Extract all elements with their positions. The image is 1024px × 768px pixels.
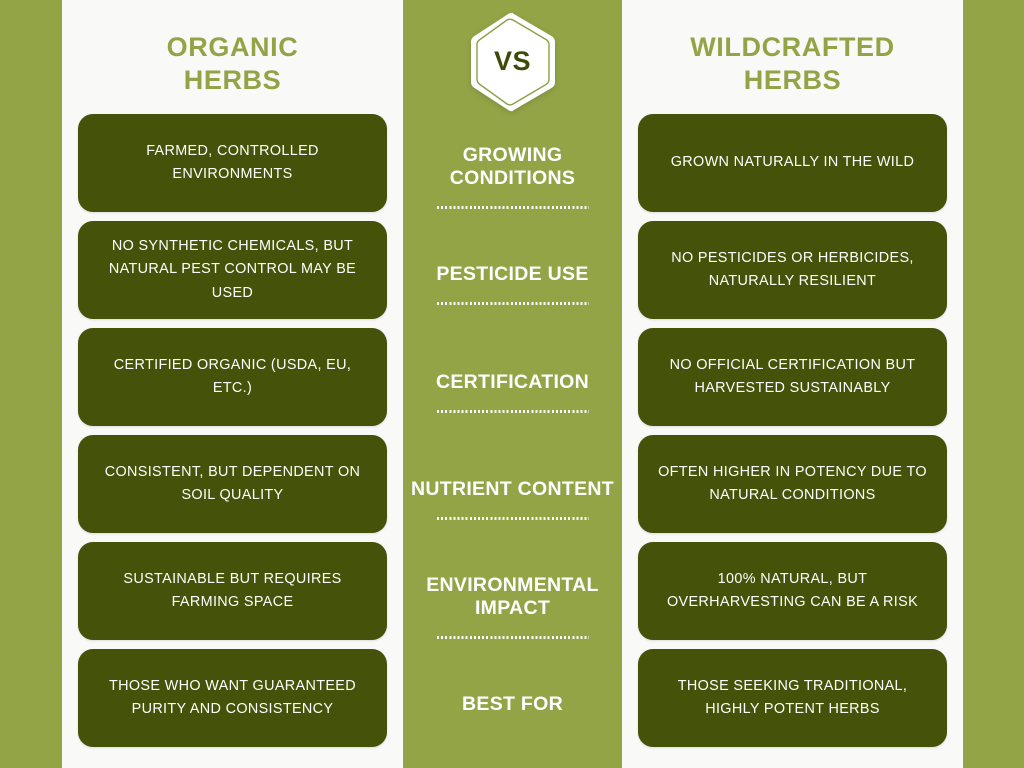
organic-herbs-title: ORGANIC HERBS — [167, 24, 299, 104]
wildcrafted-herbs-title-line2: HERBS — [690, 64, 895, 97]
criteria-divider — [437, 410, 589, 413]
criteria-label-environmental-impact: ENVIRONMENTAL IMPACT — [403, 574, 622, 620]
criteria-row-pesticide-use: PESTICIDE USE — [403, 231, 622, 339]
wildcrafted-card-best-for: THOSE SEEKING TRADITIONAL, HIGHLY POTENT… — [638, 649, 947, 747]
left-gutter — [0, 0, 62, 768]
organic-card-best-for: THOSE WHO WANT GUARANTEED PURITY AND CON… — [78, 649, 387, 747]
criteria-row-best-for: BEST FOR — [403, 661, 622, 768]
organic-card-environmental-impact: SUSTAINABLE BUT REQUIRES FARMING SPACE — [78, 542, 387, 640]
comparison-infographic: ORGANIC HERBS FARMED, CONTROLLED ENVIRON… — [0, 0, 1024, 768]
organic-herbs-column: ORGANIC HERBS FARMED, CONTROLLED ENVIRON… — [62, 0, 403, 768]
criteria-row-certification: CERTIFICATION — [403, 338, 622, 446]
criteria-label-growing-conditions: GROWING CONDITIONS — [403, 144, 622, 190]
wildcrafted-card-growing-conditions: GROWN NATURALLY IN THE WILD — [638, 114, 947, 212]
criteria-column: VS GROWING CONDITIONS PESTICIDE USE CERT… — [403, 0, 622, 768]
criteria-label-certification: CERTIFICATION — [432, 371, 593, 394]
right-gutter — [963, 0, 1024, 768]
criteria-row-nutrient-content: NUTRIENT CONTENT — [403, 446, 622, 554]
organic-card-nutrient-content: CONSISTENT, BUT DEPENDENT ON SOIL QUALIT… — [78, 435, 387, 533]
vs-badge: VS — [467, 11, 559, 113]
wildcrafted-herbs-card-list: GROWN NATURALLY IN THE WILD NO PESTICIDE… — [638, 104, 947, 747]
wildcrafted-card-nutrient-content: OFTEN HIGHER IN POTENCY DUE TO NATURAL C… — [638, 435, 947, 533]
criteria-divider — [437, 206, 589, 209]
criteria-row-growing-conditions: GROWING CONDITIONS — [403, 123, 622, 231]
wildcrafted-herbs-column: WILDCRAFTED HERBS GROWN NATURALLY IN THE… — [622, 0, 963, 768]
organic-herbs-title-line1: ORGANIC — [167, 31, 299, 64]
criteria-row-environmental-impact: ENVIRONMENTAL IMPACT — [403, 553, 622, 661]
criteria-label-nutrient-content: NUTRIENT CONTENT — [407, 478, 618, 501]
wildcrafted-card-certification: NO OFFICIAL CERTIFICATION BUT HARVESTED … — [638, 328, 947, 426]
wildcrafted-card-environmental-impact: 100% NATURAL, BUT OVERHARVESTING CAN BE … — [638, 542, 947, 640]
wildcrafted-herbs-title-line1: WILDCRAFTED — [690, 31, 895, 64]
wildcrafted-card-pesticide-use: NO PESTICIDES OR HERBICIDES, NATURALLY R… — [638, 221, 947, 319]
organic-card-growing-conditions: FARMED, CONTROLLED ENVIRONMENTS — [78, 114, 387, 212]
criteria-divider — [437, 636, 589, 639]
organic-herbs-card-list: FARMED, CONTROLLED ENVIRONMENTS NO SYNTH… — [78, 104, 387, 747]
criteria-divider — [437, 302, 589, 305]
organic-card-pesticide-use: NO SYNTHETIC CHEMICALS, BUT NATURAL PEST… — [78, 221, 387, 319]
wildcrafted-herbs-title: WILDCRAFTED HERBS — [690, 24, 895, 104]
organic-herbs-title-line2: HERBS — [167, 64, 299, 97]
criteria-list: GROWING CONDITIONS PESTICIDE USE CERTIFI… — [403, 113, 622, 768]
criteria-divider — [437, 517, 589, 520]
organic-card-certification: CERTIFIED ORGANIC (USDA, EU, ETC.) — [78, 328, 387, 426]
criteria-label-pesticide-use: PESTICIDE USE — [432, 263, 592, 286]
vs-badge-label: VS — [467, 11, 559, 113]
criteria-label-best-for: BEST FOR — [458, 693, 567, 716]
